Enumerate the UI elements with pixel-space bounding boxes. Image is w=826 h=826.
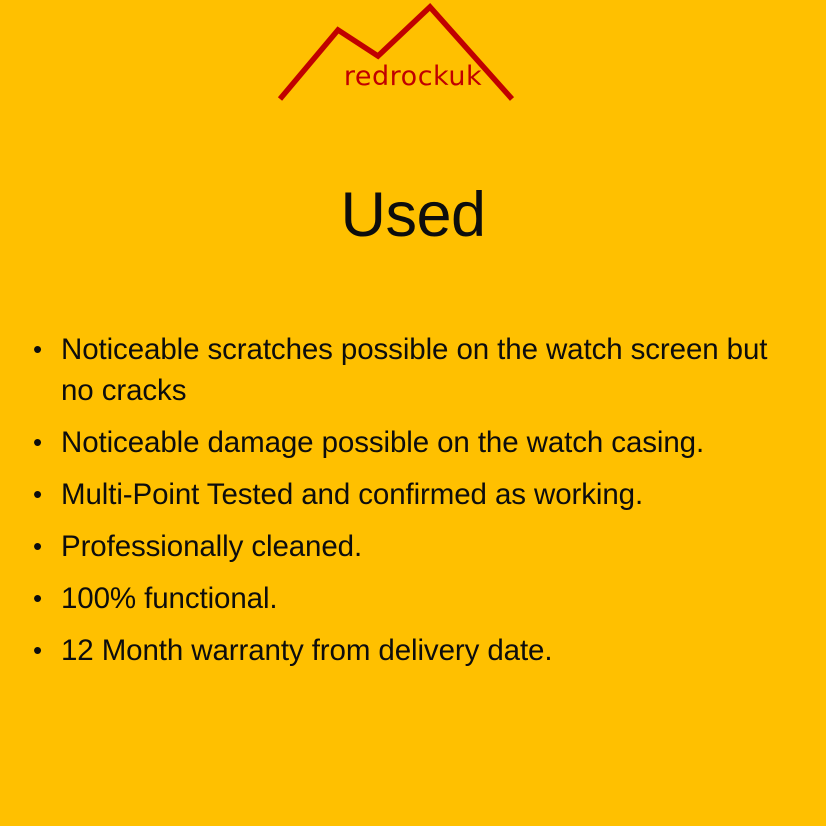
brand-logo: redrockuk (0, 0, 826, 110)
condition-list: • Noticeable scratches possible on the w… (28, 329, 806, 671)
list-item-label: Professionally cleaned. (61, 526, 806, 567)
bullet-point-icon: • (33, 526, 47, 567)
bullet-point-icon: • (33, 329, 47, 370)
bullet-point-icon: • (33, 630, 47, 671)
brand-wordmark: redrockuk (0, 60, 826, 94)
list-item: • Multi-Point Tested and confirmed as wo… (28, 474, 806, 515)
list-item: • 100% functional. (28, 578, 806, 619)
page-title: Used (0, 178, 826, 252)
list-item: • Professionally cleaned. (28, 526, 806, 567)
list-item: • 12 Month warranty from delivery date. (28, 630, 806, 671)
list-item: • Noticeable damage possible on the watc… (28, 422, 806, 463)
list-item-label: 100% functional. (61, 578, 806, 619)
bullet-point-icon: • (33, 578, 47, 619)
condition-card: redrockuk Used • Noticeable scratches po… (0, 0, 826, 826)
bullet-point-icon: • (33, 422, 47, 463)
list-item: • Noticeable scratches possible on the w… (28, 329, 806, 411)
list-item-label: 12 Month warranty from delivery date. (61, 630, 806, 671)
list-item-label: Noticeable scratches possible on the wat… (61, 329, 806, 411)
list-item-label: Multi-Point Tested and confirmed as work… (61, 474, 806, 515)
list-item-label: Noticeable damage possible on the watch … (61, 422, 806, 463)
bullet-point-icon: • (33, 474, 47, 515)
